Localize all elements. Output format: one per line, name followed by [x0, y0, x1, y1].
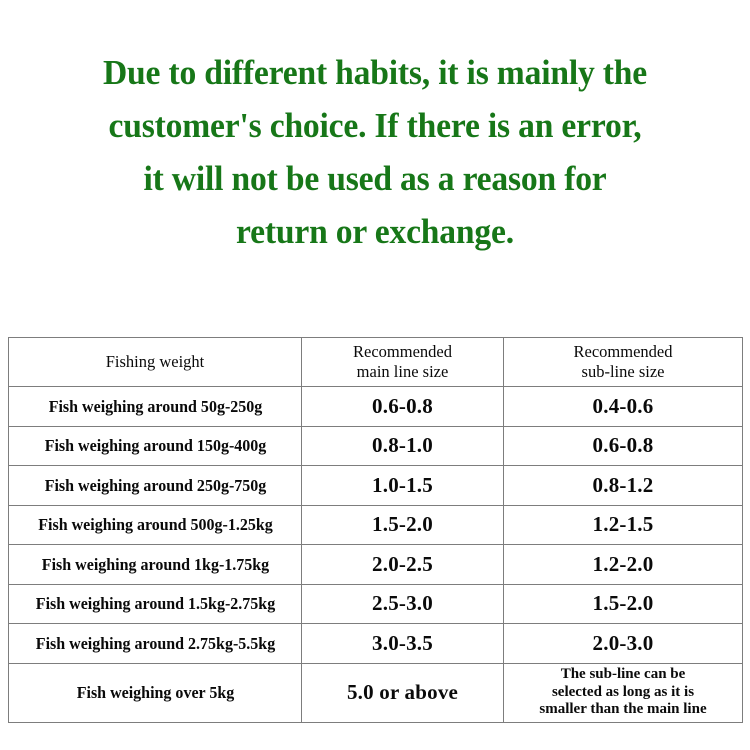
cell-fishing-weight: Fish weighing around 150g-400g	[13, 426, 297, 466]
cell-main-line-size: 2.5-3.0	[302, 584, 504, 624]
cell-main-line-size: 2.0-2.5	[302, 545, 504, 585]
cell-main-line-size: 0.6-0.8	[302, 387, 504, 427]
notice-line-1: Due to different habits, it is mainly th…	[15, 46, 735, 99]
column-header-main-line-size: Recommended main line size	[302, 338, 504, 387]
cell-sub-line-size: 0.4-0.6	[504, 387, 743, 427]
cell-sub-line-size: 2.0-3.0	[504, 624, 743, 664]
cell-sub-line-note-line-2: selected as long as it is	[508, 684, 738, 702]
cell-sub-line-size: 1.2-1.5	[504, 505, 743, 545]
cell-fishing-weight: Fish weighing around 500g-1.25kg	[13, 505, 297, 545]
fishing-line-size-chart-page: Due to different habits, it is mainly th…	[0, 0, 750, 750]
cell-sub-line-size: The sub-line can be selected as long as …	[504, 663, 743, 722]
cell-main-line-size: 3.0-3.5	[302, 624, 504, 664]
column-header-sub-line-size: Recommended sub-line size	[504, 338, 743, 387]
table-row: Fish weighing around 250g-750g 1.0-1.5 0…	[9, 466, 743, 506]
table-header: Fishing weight Recommended main line siz…	[9, 338, 743, 387]
table-row: Fish weighing around 2.75kg-5.5kg 3.0-3.…	[9, 624, 743, 664]
table-row: Fish weighing around 50g-250g 0.6-0.8 0.…	[9, 387, 743, 427]
column-header-sub-line-size-line-1: Recommended	[508, 342, 738, 362]
cell-sub-line-size: 1.5-2.0	[504, 584, 743, 624]
table-row: Fish weighing around 500g-1.25kg 1.5-2.0…	[9, 505, 743, 545]
notice-line-2: customer's choice. If there is an error,	[15, 99, 735, 152]
notice-line-4: return or exchange.	[15, 205, 735, 258]
notice-line-3: it will not be used as a reason for	[15, 152, 735, 205]
table-header-row: Fishing weight Recommended main line siz…	[9, 338, 743, 387]
cell-fishing-weight: Fish weighing around 1kg-1.75kg	[13, 545, 297, 585]
column-header-main-line-size-line-1: Recommended	[306, 342, 499, 362]
cell-main-line-size: 0.8-1.0	[302, 426, 504, 466]
table-row: Fish weighing around 1kg-1.75kg 2.0-2.5 …	[9, 545, 743, 585]
cell-sub-line-size: 0.8-1.2	[504, 466, 743, 506]
cell-fishing-weight: Fish weighing around 2.75kg-5.5kg	[13, 624, 297, 664]
cell-fishing-weight: Fish weighing around 50g-250g	[13, 387, 297, 427]
table-row: Fish weighing around 1.5kg-2.75kg 2.5-3.…	[9, 584, 743, 624]
cell-fishing-weight: Fish weighing around 1.5kg-2.75kg	[13, 584, 297, 624]
cell-main-line-size: 1.5-2.0	[302, 505, 504, 545]
table-body: Fish weighing around 50g-250g 0.6-0.8 0.…	[9, 387, 743, 723]
cell-fishing-weight: Fish weighing around 250g-750g	[13, 466, 297, 506]
column-header-fishing-weight-line-1: Fishing weight	[13, 352, 297, 372]
cell-fishing-weight: Fish weighing over 5kg	[13, 663, 297, 722]
table-row: Fish weighing over 5kg 5.0 or above The …	[9, 663, 743, 722]
cell-sub-line-note-line-1: The sub-line can be	[508, 666, 738, 684]
cell-sub-line-size: 1.2-2.0	[504, 545, 743, 585]
column-header-main-line-size-line-2: main line size	[306, 362, 499, 382]
return-policy-notice: Due to different habits, it is mainly th…	[0, 46, 750, 258]
line-size-table: Fishing weight Recommended main line siz…	[8, 337, 743, 723]
column-header-fishing-weight: Fishing weight	[9, 338, 302, 387]
table-row: Fish weighing around 150g-400g 0.8-1.0 0…	[9, 426, 743, 466]
column-header-sub-line-size-line-2: sub-line size	[508, 362, 738, 382]
cell-main-line-size: 5.0 or above	[302, 663, 504, 722]
cell-sub-line-note-line-3: smaller than the main line	[508, 701, 738, 719]
cell-main-line-size: 1.0-1.5	[302, 466, 504, 506]
cell-sub-line-size: 0.6-0.8	[504, 426, 743, 466]
